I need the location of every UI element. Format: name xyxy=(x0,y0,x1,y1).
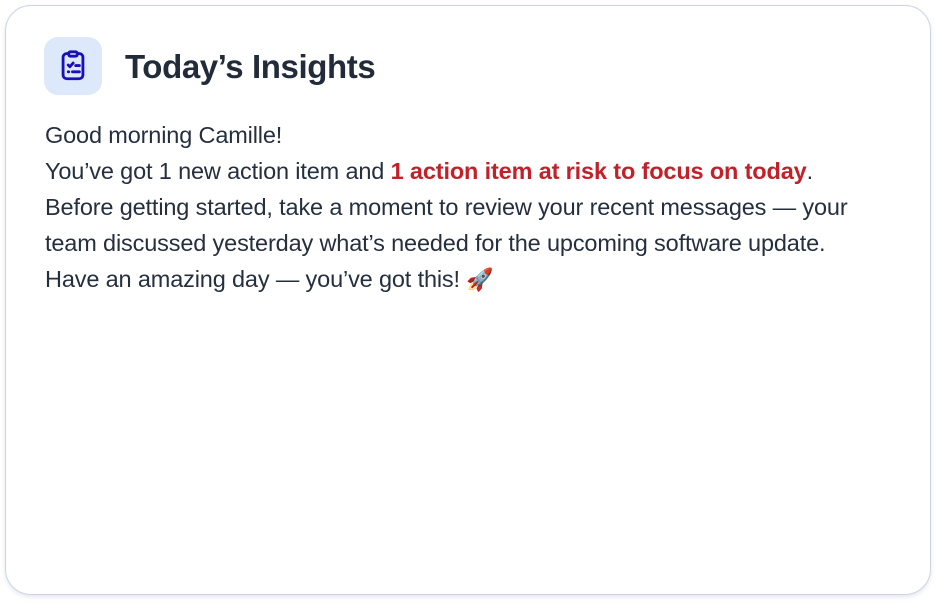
risk-item-highlight[interactable]: 1 action item at risk to focus on today xyxy=(391,158,807,184)
rocket-icon: 🚀 xyxy=(466,267,493,292)
closing-text: Have an amazing day — you’ve got this! xyxy=(45,266,466,292)
app-screen: Today’s Insights Good morning Camille! Y… xyxy=(0,0,936,602)
card-header: Today’s Insights xyxy=(6,6,930,95)
todays-insights-card: Today’s Insights Good morning Camille! Y… xyxy=(5,5,931,595)
closing-line: Have an amazing day — you’ve got this! 🚀 xyxy=(45,261,865,298)
card-body: Good morning Camille! You’ve got 1 new a… xyxy=(6,95,930,298)
page-title: Today’s Insights xyxy=(125,50,375,83)
clipboard-checklist-icon xyxy=(44,37,102,95)
summary-prefix: You’ve got 1 new action item and xyxy=(45,158,391,184)
summary-suffix: . xyxy=(807,158,813,184)
summary-line: You’ve got 1 new action item and 1 actio… xyxy=(45,153,865,189)
review-messages-paragraph: Before getting started, take a moment to… xyxy=(45,189,865,261)
greeting-line: Good morning Camille! xyxy=(45,117,870,153)
